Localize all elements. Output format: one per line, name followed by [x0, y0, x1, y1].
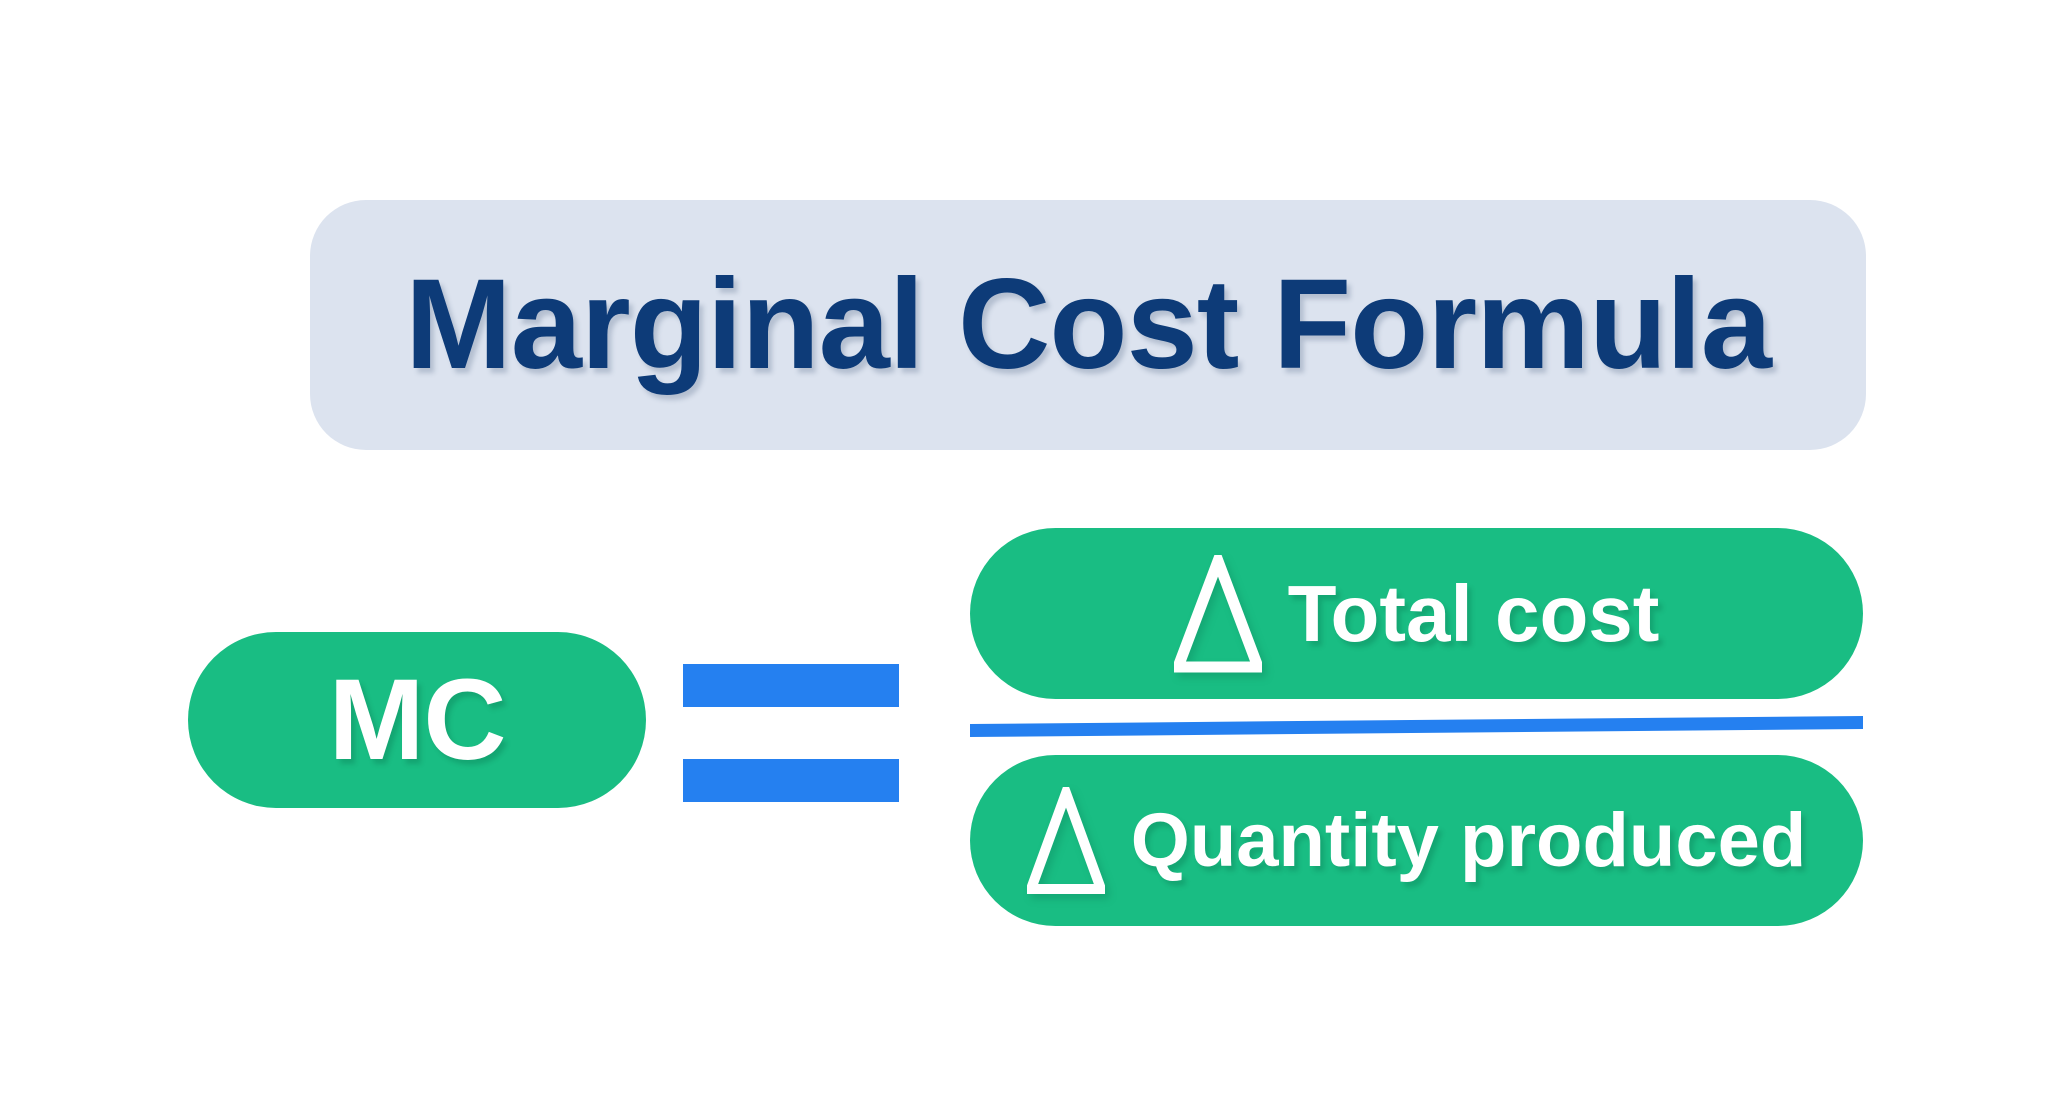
- marginal-cost-label: MC: [329, 663, 506, 778]
- delta-icon: [1027, 787, 1105, 895]
- denominator-label: Quantity produced: [1131, 803, 1807, 879]
- denominator-pill: Quantity produced: [970, 755, 1863, 926]
- equals-bar-top: [683, 664, 899, 707]
- equation-row: MC Total cost: [0, 0, 2061, 1097]
- equals-bar-bottom: [683, 759, 899, 802]
- formula-canvas: Marginal Cost Formula MC Total cost: [0, 0, 2061, 1097]
- numerator-content: Total cost: [1174, 555, 1660, 673]
- delta-icon: [1174, 555, 1262, 673]
- denominator-content: Quantity produced: [1027, 787, 1807, 895]
- numerator-label: Total cost: [1288, 574, 1660, 654]
- marginal-cost-pill: MC: [188, 632, 646, 808]
- fraction-bar: [970, 716, 1863, 738]
- numerator-pill: Total cost: [970, 528, 1863, 699]
- fraction: Total cost Quantity produced: [970, 528, 1863, 926]
- equals-sign-icon: [683, 664, 899, 802]
